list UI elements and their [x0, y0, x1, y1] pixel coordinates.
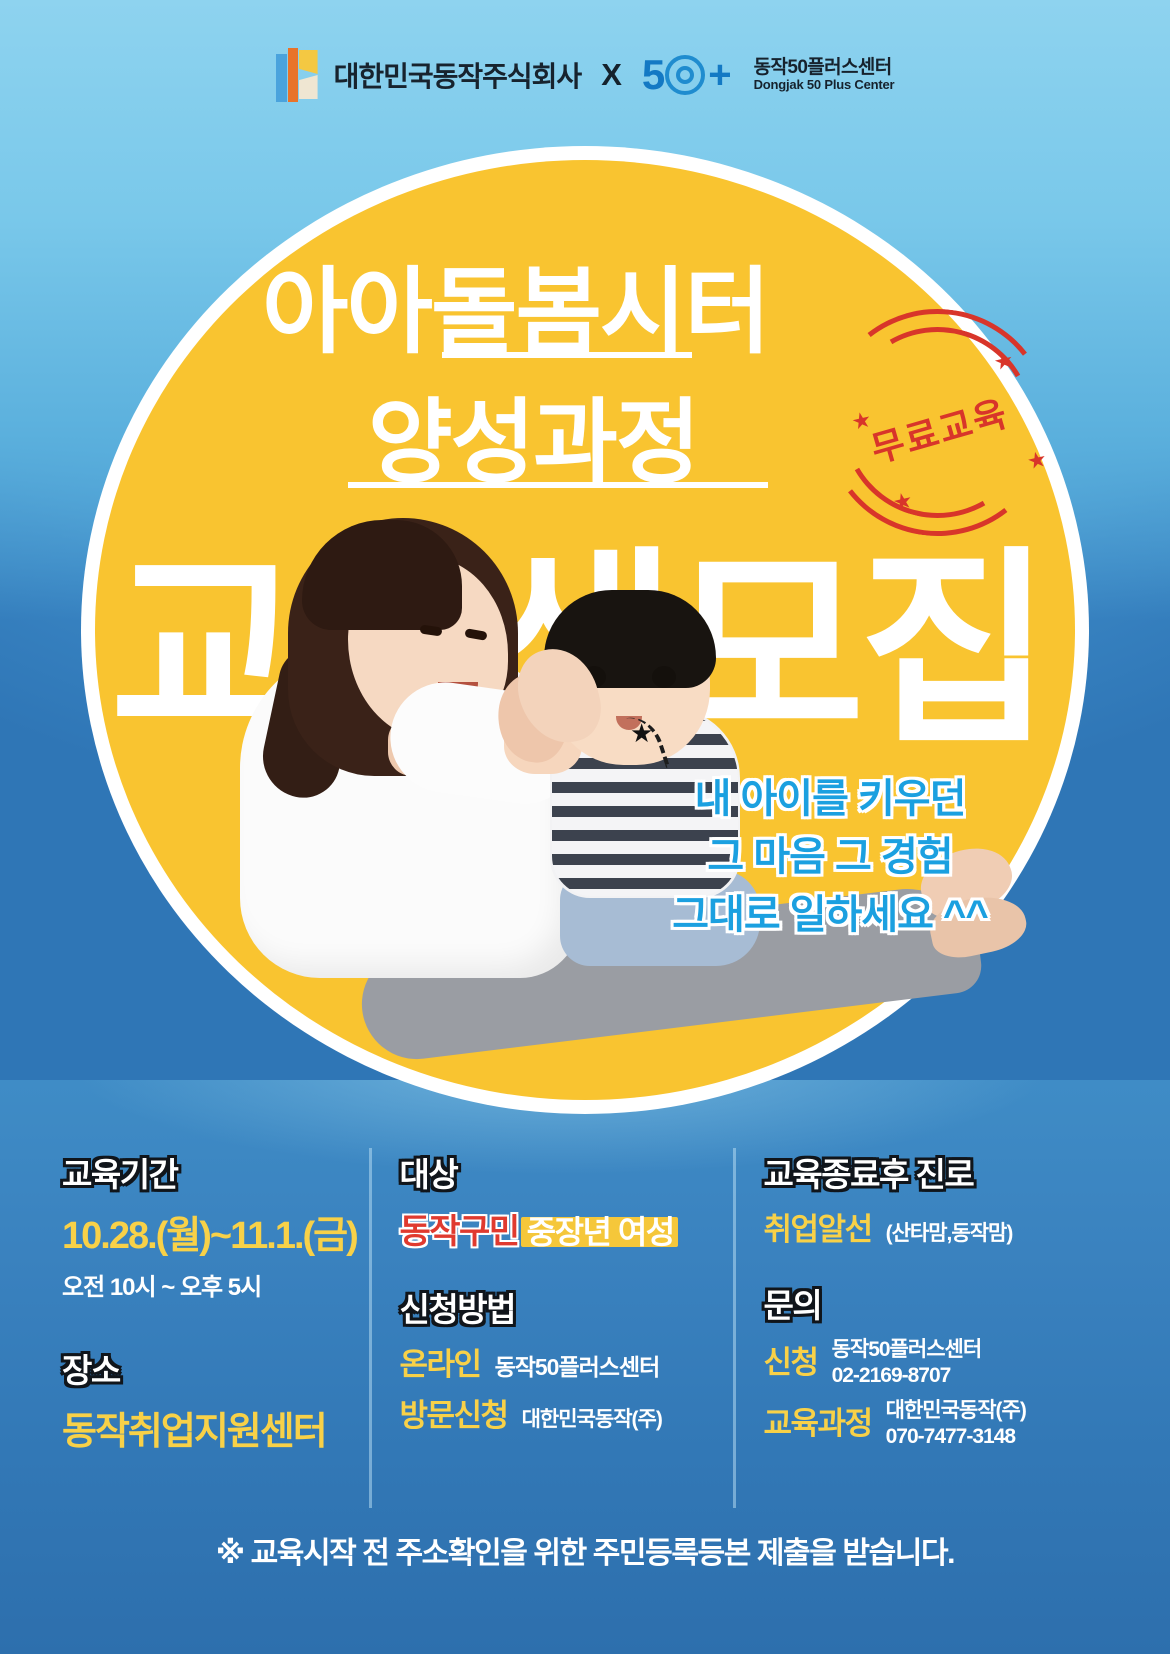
contact-course-tel: 070-7477-3148 [886, 1424, 1026, 1450]
career-header: 교육종료후 진로 [764, 1148, 1126, 1196]
header-logos: 대한민국동작주식회사 X 5 + 동작50플러스센터 Dongjak 50 Pl… [0, 48, 1170, 102]
period-header: 교육기간 [62, 1148, 369, 1196]
target-header: 대상 [400, 1148, 733, 1196]
black-star-icon: ★ [630, 718, 653, 749]
brand-name-left: 대한민국동작주식회사 [334, 55, 582, 95]
tagline-block: 내 아이를 키우던 그 마음 그 경험 그대로 일하세요 ^^ [600, 770, 1060, 944]
apply-online-label: 온라인 [400, 1339, 481, 1384]
contact-apply-row: 신청 동작50플러스센터 02-2169-8707 [764, 1337, 1126, 1388]
contact-course-label: 교육과정 [764, 1398, 872, 1443]
career-row: 취업알선 (산타맘,동작맘) [764, 1204, 1126, 1249]
contact-course-row: 교육과정 대한민국동작(주) 070-7477-3148 [764, 1398, 1126, 1449]
poster-root: 대한민국동작주식회사 X 5 + 동작50플러스센터 Dongjak 50 Pl… [0, 0, 1170, 1654]
place-value: 동작취업지원센터 [62, 1400, 369, 1455]
contact-apply-org: 동작50플러스센터 [832, 1337, 982, 1363]
title-underline-2 [348, 482, 768, 488]
x-collab-icon: X [597, 57, 626, 93]
target-rest-text: 중장년 여성 [527, 1214, 674, 1250]
period-time: 오전 10시 ~ 오후 5시 [62, 1267, 369, 1302]
apply-visit-row: 방문신청 대한민국동작(주) [400, 1390, 733, 1435]
info-column-target-apply: 대상 동작구민 중장년 여성 신청방법 온라인 동작50플러스센터 방문신청 대… [369, 1148, 733, 1508]
target-highlight-red: 동작구민 [400, 1204, 519, 1253]
apply-visit-value: 대한민국동작(주) [522, 1403, 662, 1433]
apply-online-value: 동작50플러스센터 [495, 1348, 660, 1382]
fifty-digit: 5 [642, 54, 663, 96]
apply-header: 신청방법 [400, 1283, 733, 1331]
contact-apply-tel: 02-2169-8707 [832, 1363, 982, 1389]
center-name-block: 동작50플러스센터 Dongjak 50 Plus Center [754, 57, 895, 94]
info-column-career-contact: 교육종료후 진로 취업알선 (산타맘,동작맘) 문의 신청 동작50플러스센터 … [733, 1148, 1126, 1508]
tagline-line-1: 내 아이를 키우던 [600, 770, 1060, 828]
period-dates: 10.28.(월)~11.1.(금) [62, 1204, 369, 1259]
center-name-korean: 동작50플러스센터 [754, 57, 895, 79]
footnote-text: ※ 교육시작 전 주소확인을 위한 주민등록등본 제출을 받습니다. [0, 1528, 1170, 1572]
contact-course-lines: 대한민국동작(주) 070-7477-3148 [886, 1398, 1026, 1449]
center-name-english: Dongjak 50 Plus Center [754, 78, 895, 93]
fifty-plus-logo-icon: 5 + [642, 54, 732, 96]
contact-course-org: 대한민국동작(주) [886, 1398, 1026, 1424]
info-column-period-place: 교육기간 10.28.(월)~11.1.(금) 오전 10시 ~ 오후 5시 장… [44, 1148, 369, 1508]
apply-online-row: 온라인 동작50플러스센터 [400, 1339, 733, 1384]
career-value: (산타맘,동작맘) [886, 1217, 1013, 1247]
tagline-line-2: 그 마음 그 경험 [600, 828, 1060, 886]
plus-icon: + [708, 55, 731, 95]
title-underline-1 [442, 352, 692, 358]
apply-visit-label: 방문신청 [400, 1390, 508, 1435]
contact-apply-lines: 동작50플러스센터 02-2169-8707 [832, 1337, 982, 1388]
ring-icon [665, 55, 705, 95]
place-header: 장소 [62, 1344, 369, 1392]
contact-header: 문의 [764, 1279, 1126, 1327]
career-label: 취업알선 [764, 1204, 872, 1249]
info-section: 교육기간 10.28.(월)~11.1.(금) 오전 10시 ~ 오후 5시 장… [0, 1148, 1170, 1508]
contact-apply-label: 신청 [764, 1337, 818, 1382]
tagline-line-3: 그대로 일하세요 ^^ [600, 886, 1060, 944]
target-rest: 중장년 여성 [527, 1207, 674, 1253]
company-logo-icon [276, 48, 318, 102]
target-value-row: 동작구민 중장년 여성 [400, 1204, 733, 1253]
